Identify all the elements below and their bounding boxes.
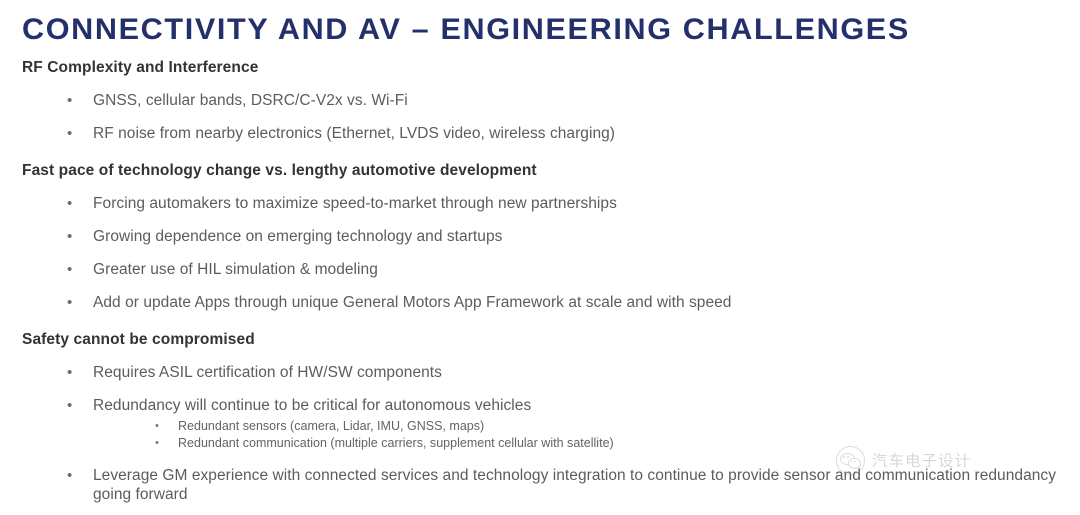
content-section: RF Complexity and Interference•GNSS, cel… [0, 58, 1080, 143]
bullet-text: Leverage GM experience with connected se… [93, 467, 1056, 503]
bullet-list: •Forcing automakers to maximize speed-to… [0, 194, 1080, 312]
bullet-marker-icon: • [67, 194, 77, 213]
sub-bullet-marker-icon: • [155, 418, 164, 435]
sub-bullet-text: Redundant communication (multiple carrie… [178, 436, 614, 450]
bullet-marker-icon: • [67, 91, 77, 110]
bullet-item: •RF noise from nearby electronics (Ether… [0, 124, 1080, 143]
spacer [0, 181, 1080, 194]
page-title: Connectivity and AV – Engineering Challe… [22, 12, 1073, 48]
bullet-item: •Add or update Apps through unique Gener… [0, 293, 1080, 312]
sub-bullet-item: •Redundant sensors (camera, Lidar, IMU, … [0, 418, 1080, 435]
bullet-item: •Redundancy will continue to be critical… [0, 396, 1080, 415]
bullet-marker-icon: • [67, 363, 77, 382]
bullet-marker-icon: • [67, 227, 77, 246]
bullet-item: •Requires ASIL certification of HW/SW co… [0, 363, 1080, 382]
bullet-item: •Greater use of HIL simulation & modelin… [0, 260, 1080, 279]
section-heading: Fast pace of technology change vs. lengt… [0, 161, 1080, 181]
bullet-text: Requires ASIL certification of HW/SW com… [93, 364, 442, 381]
spacer [0, 213, 1080, 227]
sub-bullet-list: •Redundant sensors (camera, Lidar, IMU, … [0, 418, 1080, 452]
content-section: Safety cannot be compromised•Requires AS… [0, 330, 1080, 504]
sections-container: RF Complexity and Interference•GNSS, cel… [0, 58, 1080, 504]
bullet-item: •Growing dependence on emerging technolo… [0, 227, 1080, 246]
bullet-text: GNSS, cellular bands, DSRC/C-V2x vs. Wi-… [93, 92, 408, 109]
bullet-list: •Requires ASIL certification of HW/SW co… [0, 363, 1080, 504]
sub-bullet-text: Redundant sensors (camera, Lidar, IMU, G… [178, 419, 484, 433]
bullet-marker-icon: • [67, 466, 77, 485]
spacer [0, 279, 1080, 293]
bullet-text: Forcing automakers to maximize speed-to-… [93, 195, 617, 212]
bullet-marker-icon: • [67, 260, 77, 279]
bullet-list: •GNSS, cellular bands, DSRC/C-V2x vs. Wi… [0, 91, 1080, 143]
sub-bullet-wrapper: •Redundant sensors (camera, Lidar, IMU, … [0, 418, 1080, 452]
bullet-item: •Leverage GM experience with connected s… [0, 466, 1080, 504]
spacer [0, 110, 1080, 124]
bullet-text: Add or update Apps through unique Genera… [93, 294, 731, 311]
bullet-item: •GNSS, cellular bands, DSRC/C-V2x vs. Wi… [0, 91, 1080, 110]
slide-canvas: Connectivity and AV – Engineering Challe… [0, 0, 1080, 515]
section-heading: RF Complexity and Interference [0, 58, 1080, 78]
sub-bullet-item: •Redundant communication (multiple carri… [0, 435, 1080, 452]
spacer [0, 350, 1080, 363]
sub-bullet-marker-icon: • [155, 435, 164, 452]
slide-body: RF Complexity and Interference•GNSS, cel… [0, 58, 1080, 504]
section-heading: Safety cannot be compromised [0, 330, 1080, 350]
content-section: Fast pace of technology change vs. lengt… [0, 161, 1080, 312]
spacer [0, 452, 1080, 466]
bullet-marker-icon: • [67, 396, 77, 415]
spacer [0, 143, 1080, 161]
bullet-marker-icon: • [67, 293, 77, 312]
spacer [0, 312, 1080, 330]
spacer [0, 382, 1080, 396]
spacer [0, 246, 1080, 260]
bullet-text: RF noise from nearby electronics (Ethern… [93, 125, 615, 142]
bullet-marker-icon: • [67, 124, 77, 143]
bullet-text: Growing dependence on emerging technolog… [93, 228, 502, 245]
bullet-item: •Forcing automakers to maximize speed-to… [0, 194, 1080, 213]
spacer [0, 78, 1080, 91]
bullet-text: Greater use of HIL simulation & modeling [93, 261, 378, 278]
bullet-text: Redundancy will continue to be critical … [93, 397, 531, 414]
